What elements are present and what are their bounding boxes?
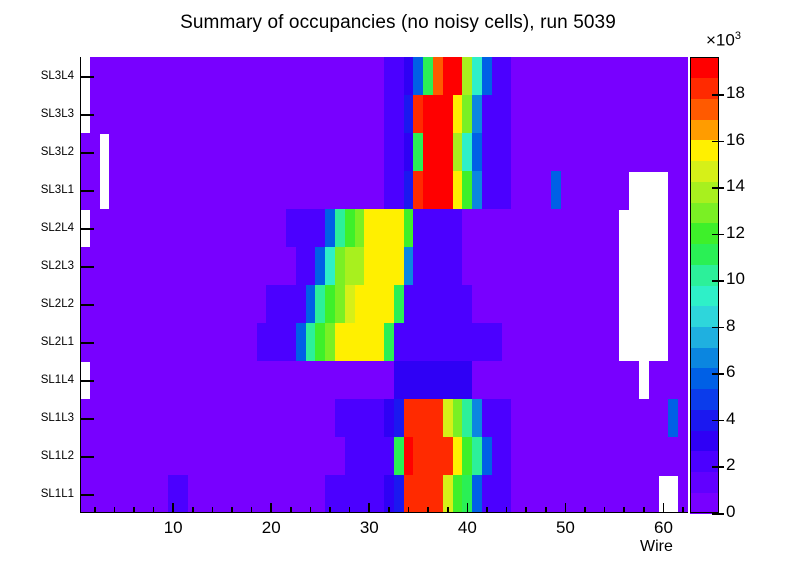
- x-axis-tick-label: 10: [143, 518, 203, 538]
- color-bar-tick: [712, 466, 724, 468]
- y-axis-label-sl2l4: SL2L4: [16, 222, 74, 234]
- x-axis-minor-tick: [604, 507, 606, 513]
- heatmap-cell: [668, 399, 678, 438]
- heatmap-cell: [306, 285, 316, 324]
- color-bar-tick-label: 6: [726, 362, 735, 382]
- heatmap-cell: [482, 95, 511, 134]
- x-axis-minor-tick: [447, 507, 449, 513]
- y-axis-tick: [80, 190, 94, 192]
- heatmap-cell: [472, 171, 482, 210]
- y-axis-tick: [80, 228, 94, 230]
- x-axis-tick-label: 40: [437, 518, 497, 538]
- y-axis-labels: SL3L4SL3L3SL3L2SL3L1SL2L4SL2L3SL2L2SL2L1…: [14, 0, 74, 572]
- heatmap-cell: [404, 247, 414, 286]
- x-axis-minor-tick: [212, 507, 214, 513]
- heatmap-cell: [462, 209, 619, 248]
- color-bar-band: [690, 119, 719, 140]
- x-axis-minor-tick: [643, 507, 645, 513]
- heatmap-cell: [502, 323, 620, 362]
- heatmap-cell: [335, 209, 345, 248]
- color-bar-band: [690, 161, 719, 182]
- heatmap-cell: [345, 247, 365, 286]
- color-bar-tick: [712, 141, 724, 143]
- heatmap-cell: [649, 361, 688, 400]
- heatmap-cell: [482, 437, 492, 476]
- heatmap-cell: [188, 475, 325, 513]
- heatmap-cell: [462, 57, 472, 96]
- heatmap-cell: [413, 57, 423, 96]
- color-bar-tick-label: 2: [726, 455, 735, 475]
- x-axis-tick-label: 30: [339, 518, 399, 538]
- heatmap-cell: [296, 247, 316, 286]
- heatmap-cell: [462, 95, 472, 134]
- y-axis-tick: [80, 342, 94, 344]
- y-axis-tick: [80, 152, 94, 154]
- heatmap-cell: [453, 133, 463, 172]
- heatmap-cell: [364, 247, 403, 286]
- color-bar-band: [690, 181, 719, 202]
- heatmap-cell: [413, 133, 423, 172]
- heatmap-cell: [335, 399, 384, 438]
- color-bar-tick: [712, 187, 724, 189]
- heatmap-cell: [109, 171, 384, 210]
- heatmap-cell: [561, 171, 630, 210]
- heatmap-cell: [384, 171, 404, 210]
- x-axis-minor-tick: [310, 507, 312, 513]
- y-axis-label-sl3l4: SL3L4: [16, 70, 74, 82]
- heatmap-cell: [472, 57, 482, 96]
- heatmap-plot[interactable]: [80, 57, 688, 513]
- heatmap-cell: [413, 171, 423, 210]
- heatmap-cell: [482, 57, 492, 96]
- x-axis-minor-tick: [388, 507, 390, 513]
- color-bar-band: [690, 451, 719, 472]
- x-axis-major-tick: [565, 503, 567, 513]
- heatmap-cell: [668, 209, 688, 248]
- heatmap-cell: [492, 57, 512, 96]
- heatmap-cell: [472, 475, 482, 513]
- heatmap-cell: [453, 95, 463, 134]
- heatmap-cell: [551, 171, 561, 210]
- heatmap-cell: [394, 437, 404, 476]
- color-bar-tick-label: 10: [726, 269, 745, 289]
- x-axis-tick-label: 60: [633, 518, 693, 538]
- heatmap-cell: [384, 95, 404, 134]
- x-axis-minor-tick: [251, 507, 253, 513]
- x-axis-minor-tick: [192, 507, 194, 513]
- color-bar-tick-label: 8: [726, 316, 735, 336]
- x-axis-tick-label: 50: [535, 518, 595, 538]
- heatmap-cell: [453, 475, 463, 513]
- heatmap-cell: [345, 209, 355, 248]
- y-axis-label-sl3l2: SL3L2: [16, 146, 74, 158]
- color-bar-tick-label: 14: [726, 176, 745, 196]
- color-bar-tick: [712, 513, 724, 515]
- color-bar-tick: [712, 94, 724, 96]
- heatmap-cell: [413, 247, 462, 286]
- y-axis-label-sl3l1: SL3L1: [16, 184, 74, 196]
- heatmap-cell: [462, 399, 472, 438]
- heatmap-cell: [511, 57, 688, 96]
- heatmap-cell: [472, 399, 482, 438]
- page-title: Summary of occupancies (no noisy cells),…: [0, 12, 796, 34]
- heatmap-cell: [668, 171, 688, 210]
- heatmap-cell: [394, 361, 472, 400]
- heatmap-cell: [345, 285, 355, 324]
- heatmap-cell: [80, 285, 266, 324]
- heatmap-cell: [90, 361, 394, 400]
- y-axis-label-sl1l2: SL1L2: [16, 450, 74, 462]
- heatmap-cell: [364, 209, 403, 248]
- heatmap-cell: [462, 437, 472, 476]
- heatmap-cell: [335, 323, 384, 362]
- heatmap-cell: [345, 437, 394, 476]
- y-axis-tick: [80, 494, 94, 496]
- x-axis-major-tick: [467, 503, 469, 513]
- heatmap-cell: [404, 399, 443, 438]
- heatmap-cell: [404, 171, 414, 210]
- heatmap-cell: [413, 209, 462, 248]
- heatmap-cell: [668, 323, 688, 362]
- y-axis-tick: [80, 304, 94, 306]
- heatmap-cell: [296, 323, 306, 362]
- color-bar-tick: [712, 373, 724, 375]
- heatmap-cell: [511, 437, 688, 476]
- color-bar-tick-label: 18: [726, 83, 745, 103]
- heatmap-cell: [462, 247, 619, 286]
- heatmap-cell: [482, 133, 511, 172]
- heatmap-cell: [335, 285, 345, 324]
- color-bar-tick: [712, 234, 724, 236]
- heatmap-cell: [384, 57, 404, 96]
- heatmap-cell: [80, 437, 345, 476]
- heatmap-cell: [443, 57, 463, 96]
- x-axis-major-tick: [663, 503, 665, 513]
- x-axis-minor-tick: [290, 507, 292, 513]
- color-bar-band: [690, 472, 719, 493]
- heatmap-cell: [266, 285, 305, 324]
- heatmap-cell: [472, 133, 482, 172]
- heatmap-cell: [315, 247, 325, 286]
- heatmap-cell: [355, 209, 365, 248]
- y-axis-tick: [80, 266, 94, 268]
- heatmap-cell: [325, 209, 335, 248]
- x-axis-minor-tick: [329, 507, 331, 513]
- x-axis-minor-tick: [682, 507, 684, 513]
- y-axis-label-sl1l3: SL1L3: [16, 412, 74, 424]
- y-axis-tick: [80, 114, 94, 116]
- heatmap-cell: [511, 399, 668, 438]
- color-bar-band: [690, 264, 719, 285]
- heatmap-cell: [80, 323, 257, 362]
- heatmap-cell: [511, 95, 688, 134]
- color-bar-band: [690, 326, 719, 347]
- x-axis-minor-tick: [94, 507, 96, 513]
- y-axis-tick: [80, 76, 94, 78]
- heatmap-cell: [325, 475, 384, 513]
- heatmap-cell: [394, 399, 404, 438]
- heatmap-cell: [668, 247, 688, 286]
- heatmap-cell: [404, 209, 414, 248]
- heatmap-cell: [394, 475, 404, 513]
- y-axis-tick: [80, 418, 94, 420]
- heatmap-cell: [404, 57, 414, 96]
- heatmap-cell: [109, 133, 384, 172]
- color-bar-band: [690, 78, 719, 99]
- heatmap-cell: [453, 171, 463, 210]
- heatmap-cell: [257, 323, 296, 362]
- heatmap-cell: [90, 57, 384, 96]
- heatmap-cell: [306, 323, 316, 362]
- x-axis-minor-tick: [506, 507, 508, 513]
- heatmap-cell: [315, 323, 325, 362]
- y-axis-label-sl2l1: SL2L1: [16, 336, 74, 348]
- color-bar-exponent: ×103: [706, 30, 741, 51]
- heatmap-cell: [492, 437, 512, 476]
- heatmap-cell: [423, 133, 452, 172]
- color-bar-band: [690, 368, 719, 389]
- heatmap-cell: [315, 285, 325, 324]
- y-axis-label-sl2l3: SL2L3: [16, 260, 74, 272]
- y-axis-label-sl3l3: SL3L3: [16, 108, 74, 120]
- x-axis-minor-tick: [133, 507, 135, 513]
- color-bar-tick-label: 0: [726, 502, 735, 522]
- heatmap-cell: [443, 399, 453, 438]
- heatmap-cell: [423, 171, 452, 210]
- color-bar-band: [690, 98, 719, 119]
- heatmap-cell: [472, 95, 482, 134]
- x-axis-major-tick: [172, 503, 174, 513]
- color-bar-band: [690, 389, 719, 410]
- color-bar-band: [690, 140, 719, 161]
- x-axis-minor-tick: [486, 507, 488, 513]
- heatmap-cell: [286, 209, 325, 248]
- heatmap-cell: [482, 171, 511, 210]
- x-axis-minor-tick: [545, 507, 547, 513]
- color-bar-band: [690, 244, 719, 265]
- heatmap-cell: [462, 133, 472, 172]
- heatmap-cell: [325, 323, 335, 362]
- heatmap-cell: [384, 399, 394, 438]
- color-bar-band: [690, 347, 719, 368]
- heatmap-cell: [355, 285, 394, 324]
- heatmap-cell: [472, 437, 482, 476]
- x-axis-major-tick: [270, 503, 272, 513]
- heatmap-cell: [325, 247, 335, 286]
- heatmap-cell: [384, 133, 404, 172]
- heatmap-cell: [394, 285, 404, 324]
- color-bar-band: [690, 285, 719, 306]
- heatmap-cell: [90, 95, 384, 134]
- heatmap-cell: [404, 133, 414, 172]
- y-axis-tick: [80, 456, 94, 458]
- color-bar-tick-label: 16: [726, 130, 745, 150]
- heatmap-cell: [168, 475, 188, 513]
- x-axis-tick-label: 20: [241, 518, 301, 538]
- heatmap-cell: [384, 323, 394, 362]
- root-canvas: Summary of occupancies (no noisy cells),…: [0, 0, 796, 572]
- x-axis-major-tick: [368, 503, 370, 513]
- x-axis-minor-tick: [349, 507, 351, 513]
- heatmap-cell: [482, 399, 511, 438]
- heatmap-cell: [423, 95, 452, 134]
- heatmap-cell: [413, 437, 452, 476]
- heatmap-cell: [90, 209, 286, 248]
- color-bar-tick: [712, 280, 724, 282]
- heatmap-cell: [453, 437, 463, 476]
- heatmap-cell: [453, 399, 463, 438]
- heatmap-cell: [423, 57, 433, 96]
- y-axis-tick: [80, 380, 94, 382]
- heatmap-cell: [335, 247, 345, 286]
- heatmap-cell: [404, 475, 443, 513]
- heatmap-cell: [404, 437, 414, 476]
- heatmap-cell: [404, 285, 473, 324]
- x-axis-minor-tick: [584, 507, 586, 513]
- heatmap-cell: [462, 171, 472, 210]
- y-axis-label-sl1l1: SL1L1: [16, 488, 74, 500]
- heatmap-cell: [394, 323, 502, 362]
- color-bar-tick-label: 4: [726, 409, 735, 429]
- heatmap-cell: [472, 361, 639, 400]
- heatmap-cell: [325, 285, 335, 324]
- heatmap-cell: [80, 399, 335, 438]
- x-axis-title: Wire: [640, 538, 673, 556]
- heatmap-cell: [413, 95, 423, 134]
- color-bar-tick: [712, 327, 724, 329]
- heatmap-cell: [472, 285, 619, 324]
- heatmap-cell: [404, 95, 414, 134]
- color-bar[interactable]: [690, 57, 719, 513]
- color-bar-band: [690, 492, 719, 513]
- heatmap-cell: [668, 285, 688, 324]
- x-axis-minor-tick: [153, 507, 155, 513]
- color-bar-band: [690, 430, 719, 451]
- heatmap-cell: [511, 171, 550, 210]
- color-bar-exponent-base: ×10: [706, 31, 735, 50]
- color-bar-tick: [712, 420, 724, 422]
- heatmap-cell: [80, 247, 296, 286]
- color-bar-tick-label: 12: [726, 223, 745, 243]
- x-axis-minor-tick: [427, 507, 429, 513]
- color-bar-band: [690, 306, 719, 327]
- color-bar-band: [690, 202, 719, 223]
- x-axis-minor-tick: [408, 507, 410, 513]
- x-axis-minor-tick: [623, 507, 625, 513]
- y-axis-label-sl1l4: SL1L4: [16, 374, 74, 386]
- x-axis-minor-tick: [231, 507, 233, 513]
- heatmap-cell: [433, 57, 443, 96]
- heatmap-cell: [511, 133, 688, 172]
- x-axis-minor-tick: [525, 507, 527, 513]
- color-bar-band: [690, 57, 719, 78]
- heatmap-cell: [678, 399, 688, 438]
- color-bar-exponent-power: 3: [735, 30, 741, 42]
- y-axis-label-sl2l2: SL2L2: [16, 298, 74, 310]
- x-axis-minor-tick: [114, 507, 116, 513]
